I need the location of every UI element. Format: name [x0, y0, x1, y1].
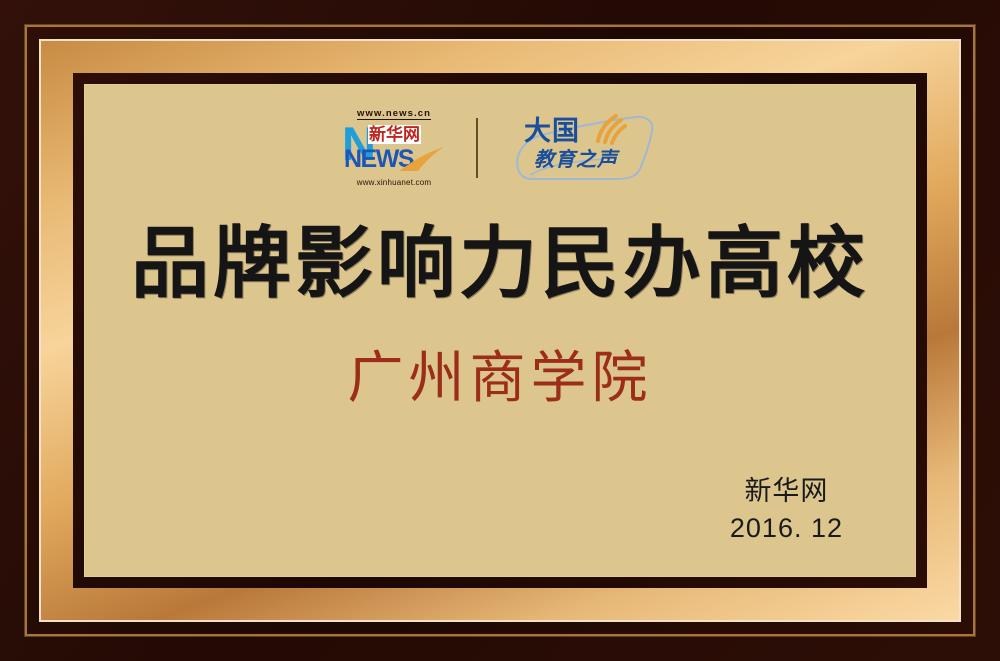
xinhua-logo: www.news.cn N 新华网 NEWS www.xinhuanet.com — [342, 108, 446, 188]
award-plaque: www.news.cn N 新华网 NEWS www.xinhuanet.com — [0, 0, 1000, 661]
daguo-line2: 教育之声 — [534, 149, 618, 171]
daguo-line1-text: 大国 — [524, 117, 580, 145]
daguo-line1: 大国 — [524, 117, 580, 145]
xinhua-swoosh-icon — [398, 146, 446, 172]
xinhua-mark: N 新华网 NEWS — [342, 124, 446, 174]
award-title: 品牌影响力民办高校 — [85, 217, 915, 311]
xinhua-bottom-url: www.xinhuanet.com — [357, 178, 432, 188]
daguo-education-logo: 大国 教育之声 — [508, 109, 658, 187]
xinhua-brand-cn-badge: 新华网 — [368, 125, 421, 144]
signature-block: 新华网 2016. 12 — [730, 474, 843, 546]
signature-organization: 新华网 — [730, 474, 843, 510]
logo-divider — [476, 118, 478, 178]
signal-waves-icon — [592, 113, 628, 145]
daguo-line2-text: 教育之声 — [534, 149, 618, 171]
award-recipient: 广州商学院 — [85, 347, 915, 411]
xinhua-brand-cn-text: 新华网 — [369, 125, 420, 144]
plaque-board: www.news.cn N 新华网 NEWS www.xinhuanet.com — [85, 85, 915, 576]
logo-row: www.news.cn N 新华网 NEWS www.xinhuanet.com — [85, 107, 915, 189]
signature-date: 2016. 12 — [730, 510, 843, 546]
